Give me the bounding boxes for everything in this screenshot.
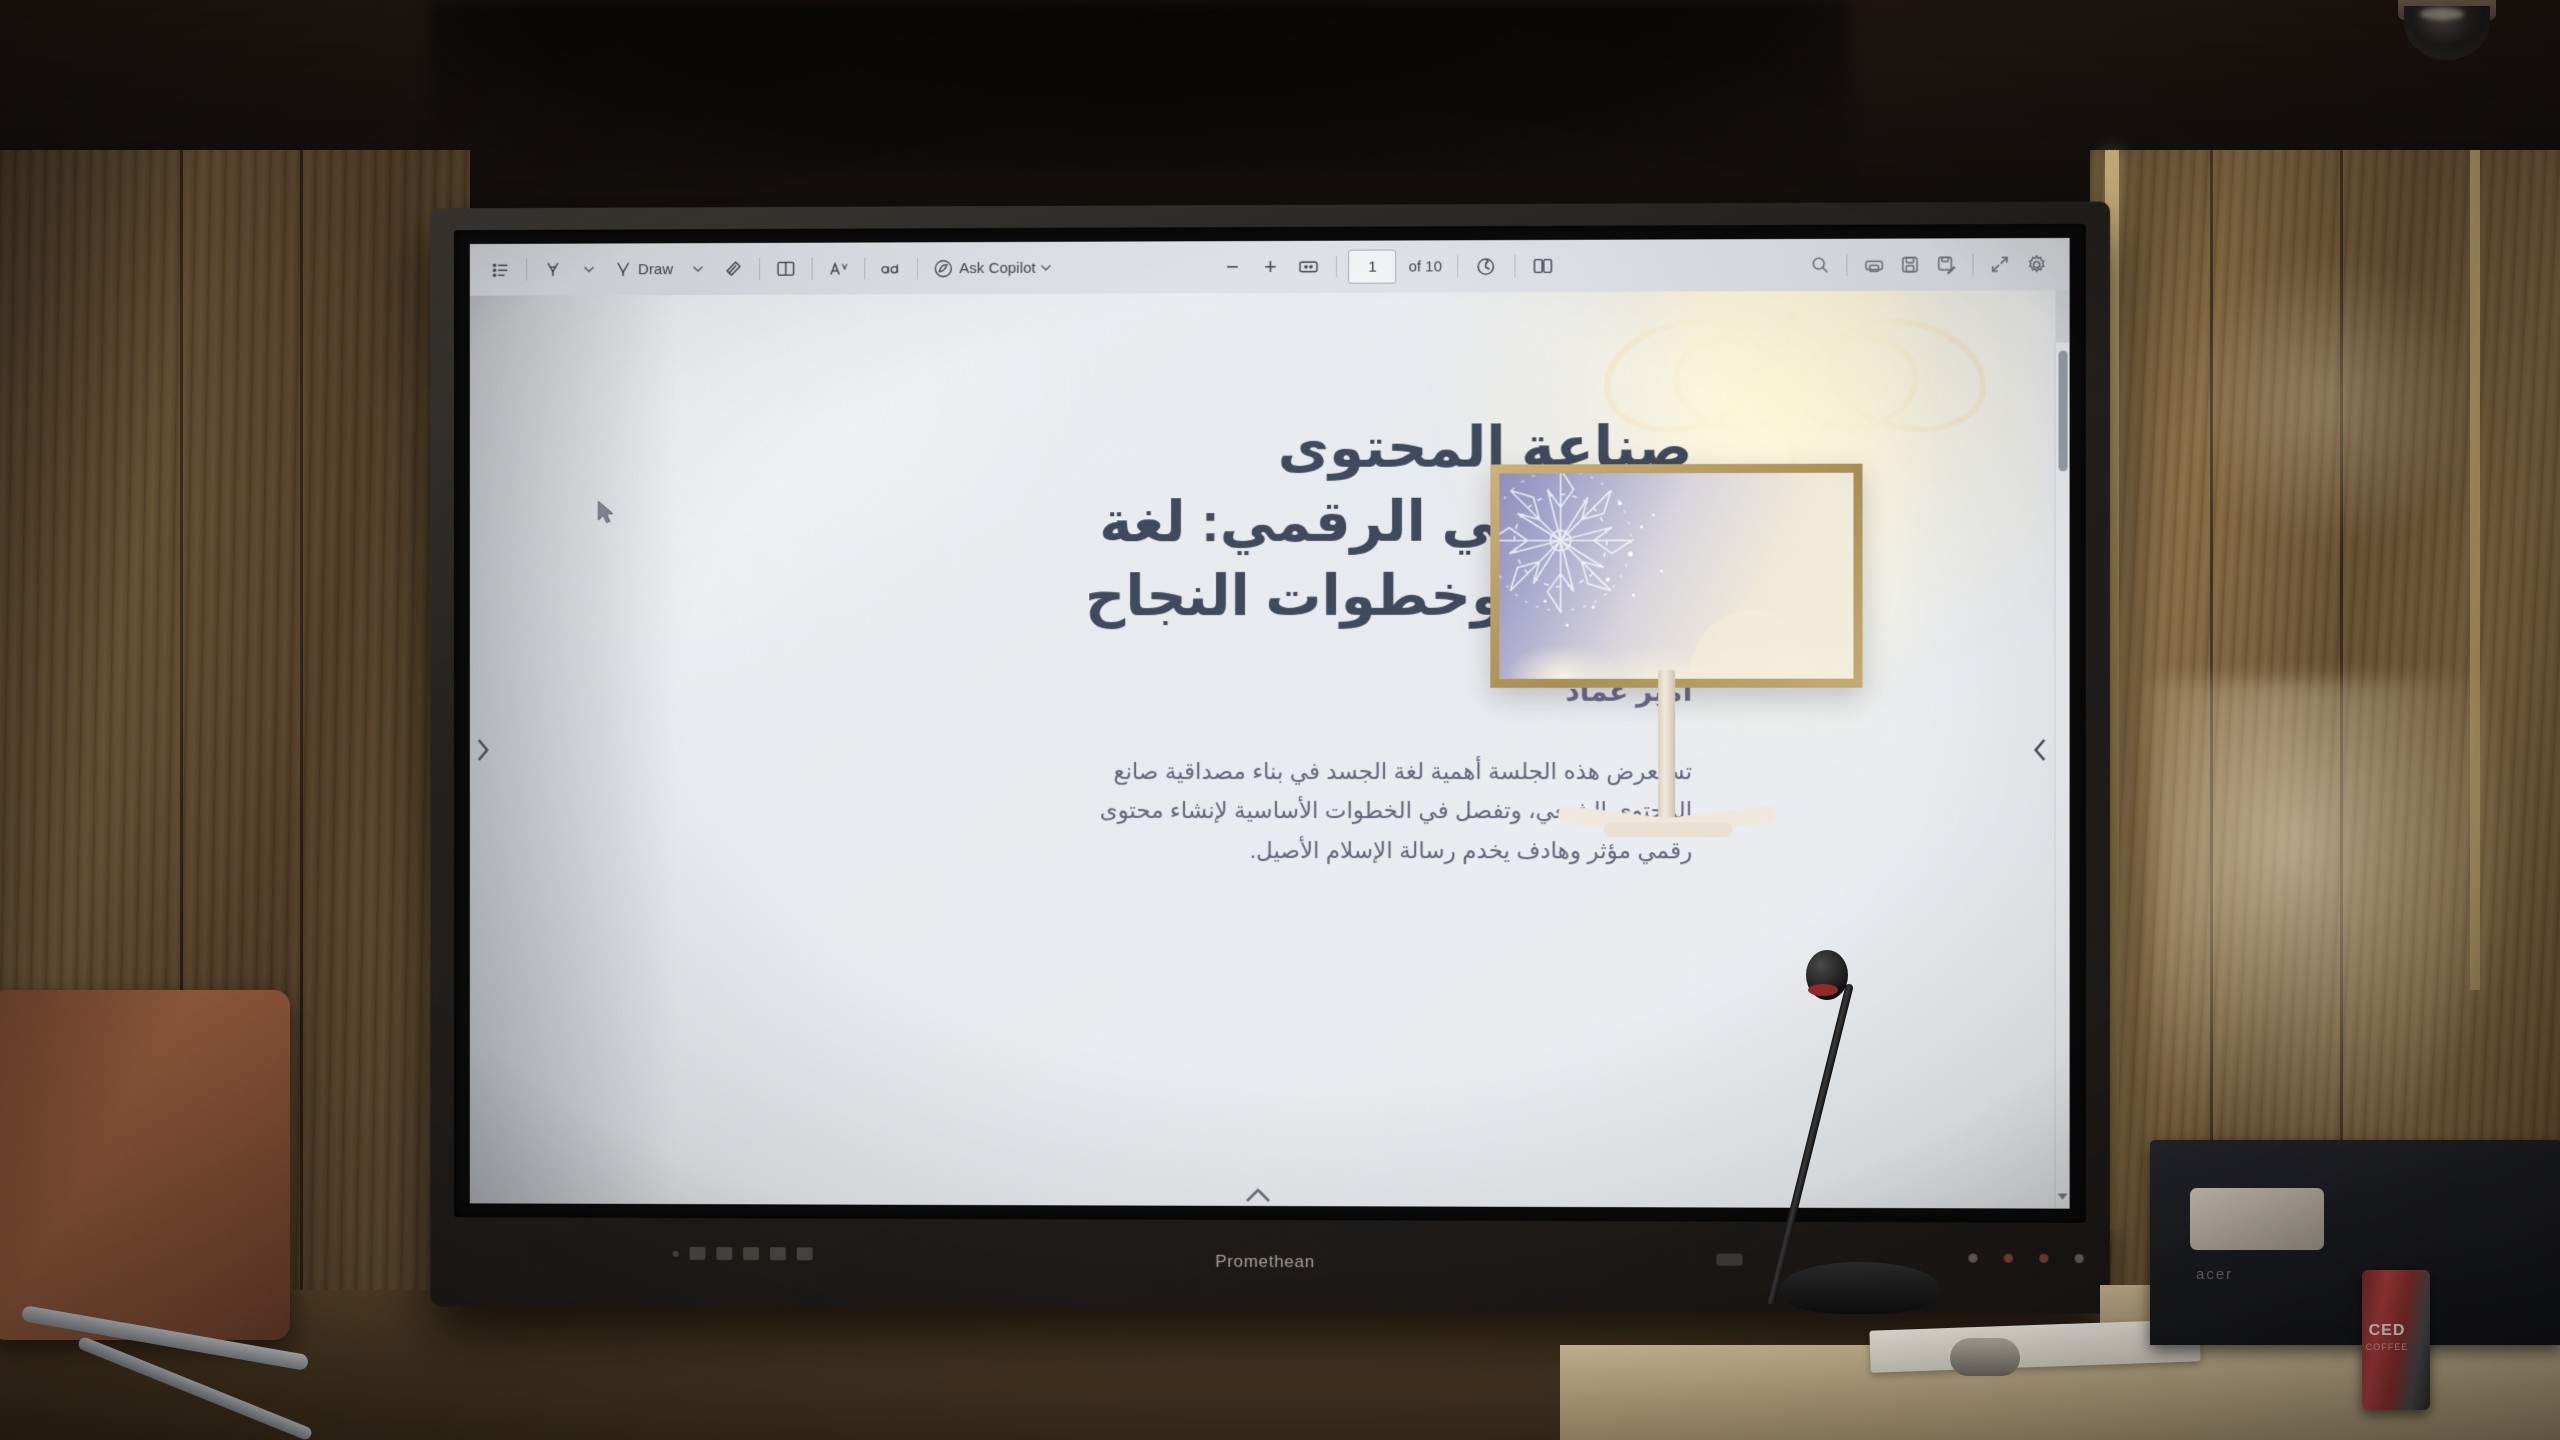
mic-base <box>1780 1262 1940 1314</box>
picture-stand-foot <box>1604 822 1733 837</box>
eraser-button[interactable] <box>717 252 751 286</box>
toc-button[interactable] <box>484 253 518 287</box>
two-page-icon <box>776 260 796 278</box>
scrollbar-thumb[interactable] <box>2058 351 2067 472</box>
chevron-down-icon <box>692 265 703 273</box>
fit-to-width-icon <box>1298 259 1319 275</box>
ask-copilot-label: Ask Copilot <box>959 259 1036 276</box>
next-page-chevron[interactable] <box>2027 727 2053 771</box>
expand-icon <box>1990 254 2010 274</box>
prev-page-chevron[interactable] <box>470 728 496 772</box>
scrollbar-down-arrow[interactable] <box>2057 1193 2067 1203</box>
toolbar-divider <box>1457 255 1458 277</box>
copilot-icon <box>933 258 954 279</box>
chevron-down-icon <box>583 265 594 273</box>
can-label-line2: COFFEE <box>2362 1342 2412 1352</box>
panel-seam <box>300 150 303 1440</box>
laptop-brand-label: acer <box>2196 1266 2233 1283</box>
document-scrollbar[interactable] <box>2054 343 2069 1209</box>
page-number-input[interactable]: 1 <box>1348 250 1396 284</box>
fullscreen-button[interactable] <box>1983 247 2017 281</box>
read-aloud-button[interactable] <box>822 252 856 286</box>
zoom-out-label: − <box>1226 256 1239 278</box>
ceiling-shadow <box>430 0 1850 175</box>
text-select-button[interactable] <box>875 251 909 285</box>
eraser-icon <box>724 259 744 279</box>
search-icon <box>1810 255 1830 275</box>
mic-gooseneck <box>1766 983 1854 1305</box>
zoom-in-label: + <box>1264 256 1277 278</box>
page-number-value: 1 <box>1368 258 1376 275</box>
acer-laptop: acer <box>2150 1140 2560 1370</box>
text-select-icon <box>881 260 903 277</box>
zoom-in-button[interactable]: + <box>1253 250 1287 284</box>
draw-button[interactable]: Draw <box>607 252 679 286</box>
chevron-down-icon <box>1041 264 1052 272</box>
wall-light-reflection <box>2180 250 2480 550</box>
office-chair <box>0 990 300 1440</box>
ask-copilot-button[interactable]: Ask Copilot <box>927 251 1057 285</box>
decorative-picture-frame <box>1490 464 1862 688</box>
page-total-label: of 10 <box>1409 258 1442 275</box>
gear-icon <box>2026 254 2047 275</box>
settings-button[interactable] <box>2019 247 2053 281</box>
save-as-icon <box>1936 254 1957 274</box>
picture-canvas <box>1499 473 1853 679</box>
iced-coffee-can: CED COFFEE <box>2362 1270 2430 1410</box>
camera-glint <box>2420 8 2464 20</box>
toolbar-divider <box>1846 254 1847 276</box>
toolbar-divider <box>1336 256 1337 278</box>
cloud-shapes <box>1499 589 1853 679</box>
viewer-toolbar: Draw <box>470 238 2070 297</box>
mic-red-ring <box>1808 984 1838 996</box>
toolbar-divider <box>865 257 866 279</box>
chair-backrest <box>0 990 290 1340</box>
toolbar-divider <box>1973 253 1974 275</box>
toolbar-divider <box>917 257 918 279</box>
screen-edge-shadow <box>470 295 678 1204</box>
mouse-cursor-icon <box>596 500 616 526</box>
highlighter-icon <box>543 260 563 280</box>
toolbar-divider <box>759 258 760 280</box>
list-icon <box>491 260 510 279</box>
save-button[interactable] <box>1893 248 1927 282</box>
search-button[interactable] <box>1803 248 1837 282</box>
print-icon <box>1863 255 1884 274</box>
ceiling-camera-icon <box>2390 0 2505 62</box>
toolbar-divider <box>526 259 527 281</box>
can-label-line1: CED <box>2362 1322 2412 1340</box>
conference-room-scene: Draw <box>0 0 2560 1440</box>
picture-stand-neck <box>1658 670 1675 820</box>
scroll-up-chevron[interactable] <box>1240 1180 1276 1204</box>
highlighter-button[interactable] <box>536 253 570 287</box>
zoom-out-button[interactable]: − <box>1215 250 1249 284</box>
wall-light-reflection <box>2150 680 2510 1150</box>
save-icon <box>1900 255 1920 275</box>
draw-options-button[interactable] <box>681 252 715 286</box>
laptop-sticker <box>2190 1188 2324 1250</box>
toolbar-divider <box>812 258 813 280</box>
page-view-button[interactable] <box>1526 249 1560 283</box>
draw-label: Draw <box>638 261 673 278</box>
read-aloud-icon <box>828 259 849 278</box>
toolbar-divider <box>1514 255 1515 277</box>
rotate-icon <box>1476 256 1497 277</box>
gooseneck-microphone <box>1780 940 2040 1380</box>
rotate-button[interactable] <box>1469 249 1503 283</box>
print-button[interactable] <box>1856 248 1890 282</box>
page-view-icon <box>1533 257 1554 275</box>
pen-icon <box>613 259 633 279</box>
fit-to-width-button[interactable] <box>1291 250 1325 284</box>
save-as-button[interactable] <box>1929 247 1963 281</box>
highlighter-options-button[interactable] <box>572 252 606 286</box>
computer-mouse <box>1950 1338 2020 1376</box>
page-layout-button[interactable] <box>769 252 803 286</box>
